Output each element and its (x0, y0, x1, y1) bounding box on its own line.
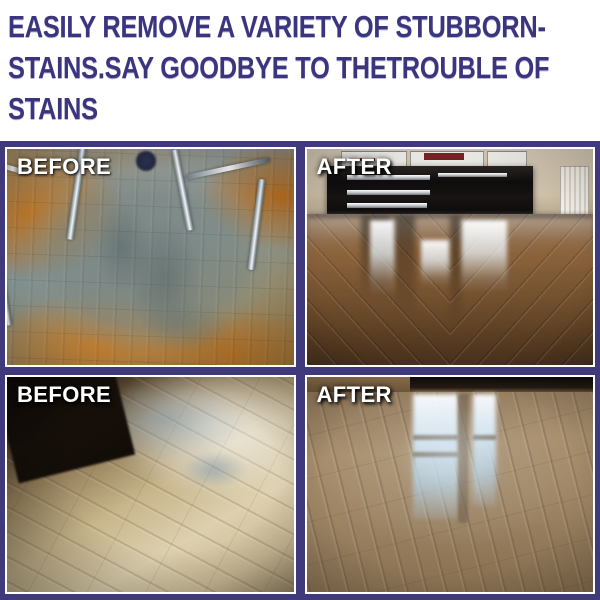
tile-caption-after: AFTER (317, 384, 392, 406)
photo-before-dull-floor (7, 377, 294, 593)
tile-caption-before: BEFORE (17, 156, 111, 178)
photo-after-restored-floor (307, 377, 594, 593)
page-title: EASILY REMOVE A VARIETY OF STUBBORN- STA… (8, 6, 487, 129)
advertisement-banner: EASILY REMOVE A VARIETY OF STUBBORN- STA… (0, 0, 600, 600)
collage-tile-after-top[interactable]: AFTER (305, 147, 596, 367)
photo-before-dirty-parquet (7, 149, 294, 365)
collage-tile-before-top[interactable]: BEFORE (5, 147, 296, 367)
tile-caption-after: AFTER (317, 156, 392, 178)
photo-after-glossy-herringbone (307, 149, 594, 365)
headline-line-2: STAINS.SAY GOODBYE TO THETROUBLE OF (8, 47, 487, 88)
before-after-collage: BEFORE (0, 141, 600, 600)
collage-tile-after-bottom[interactable]: AFTER (305, 375, 596, 595)
collage-tile-before-bottom[interactable]: BEFORE (5, 375, 296, 595)
headline-line-1: EASILY REMOVE A VARIETY OF STUBBORN- (8, 6, 487, 47)
tile-caption-before: BEFORE (17, 384, 111, 406)
headline-section: EASILY REMOVE A VARIETY OF STUBBORN- STA… (0, 0, 600, 141)
headline-line-3: STAINS (8, 88, 487, 129)
